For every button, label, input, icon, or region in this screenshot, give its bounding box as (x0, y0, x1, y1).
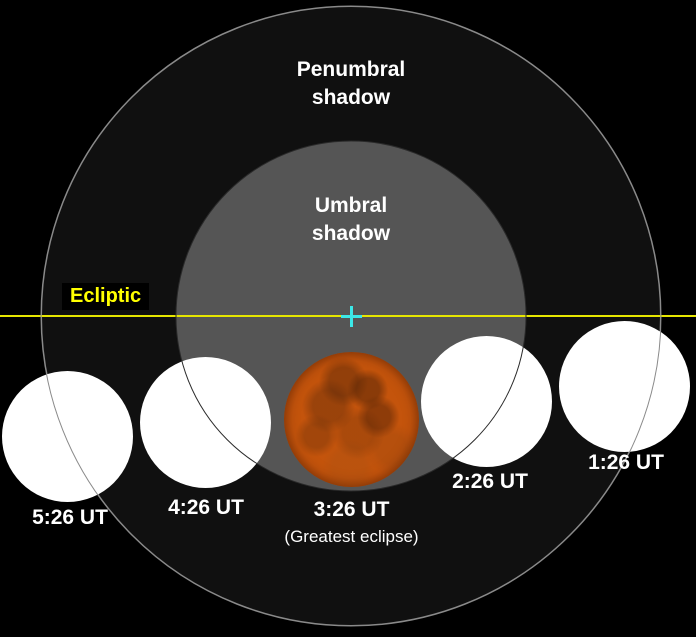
moon-disc-3-26-eclipsed (284, 352, 419, 487)
lunar-eclipse-diagram: Ecliptic Penumbral shadow Umbral shadow … (0, 0, 696, 637)
moon-disc-4-26 (140, 357, 271, 488)
time-label-1-26: 1:26 UT (556, 451, 696, 475)
ecliptic-label-text: Ecliptic (70, 285, 141, 307)
shadow-center-cross-icon (341, 306, 362, 327)
time-label-2-26: 2:26 UT (420, 470, 560, 494)
greatest-eclipse-note: (Greatest eclipse) (264, 527, 439, 547)
ecliptic-label: Ecliptic (62, 283, 149, 310)
time-label-5-26: 5:26 UT (0, 506, 140, 530)
cross-vertical-bar (350, 306, 353, 327)
time-label-3-26: 3:26 UT (279, 498, 424, 522)
moon-disc-5-26 (2, 371, 133, 502)
penumbral-shadow-label: Penumbral shadow (248, 56, 454, 112)
time-label-4-26: 4:26 UT (136, 496, 276, 520)
moon-disc-2-26 (421, 336, 552, 467)
umbral-shadow-label: Umbral shadow (248, 192, 454, 248)
moon-disc-1-26 (559, 321, 690, 452)
